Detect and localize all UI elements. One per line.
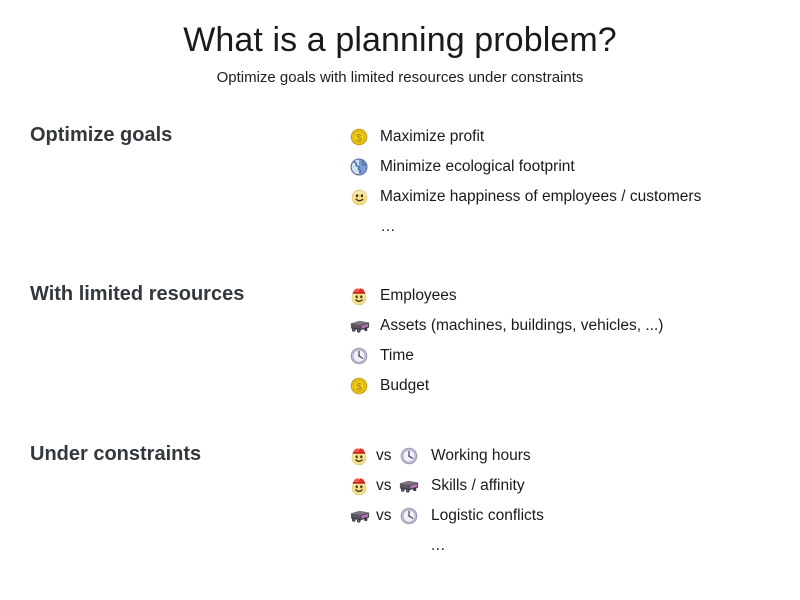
vs-label: vs: [376, 506, 392, 526]
bullet-list-limited-resources: Employees Assets (machines, buildings, v…: [348, 281, 663, 401]
section-heading-limited-resources: With limited resources: [30, 281, 244, 307]
truck-icon: [348, 316, 370, 336]
vs-label: vs: [376, 446, 392, 466]
truck-icon: [398, 476, 420, 496]
bullet-list-optimize-goals: $ Maximize profit Minimize ecological fo…: [348, 122, 701, 242]
list-item-label: Maximize happiness of employees / custom…: [380, 187, 701, 207]
list-item: $ Budget: [348, 371, 663, 401]
list-item-label: Maximize profit: [380, 127, 484, 147]
list-item: vs Skills / affinity: [348, 471, 445, 501]
smiley-icon: [348, 187, 370, 207]
worker-icon: [348, 476, 370, 496]
list-item: Maximize happiness of employees / custom…: [348, 182, 701, 212]
list-item-label: Employees: [380, 286, 457, 306]
list-ellipsis: ...: [348, 531, 445, 561]
worker-icon: [348, 446, 370, 466]
svg-text:$: $: [356, 381, 362, 393]
list-item-label: Time: [380, 346, 414, 366]
slide-title: What is a planning problem?: [0, 20, 800, 60]
svg-text:$: $: [356, 132, 362, 144]
list-item: vs Working hours: [348, 441, 445, 471]
list-ellipsis: ...: [348, 212, 701, 242]
list-item-label: Minimize ecological footprint: [380, 157, 575, 177]
constraint-pair: vs: [348, 476, 421, 496]
slide-subtitle: Optimize goals with limited resources un…: [0, 68, 800, 88]
list-item: $ Maximize profit: [348, 122, 701, 152]
worker-icon: [348, 286, 370, 306]
coin-icon: $: [348, 127, 370, 147]
globe-icon: [348, 157, 370, 177]
section-heading-under-constraints: Under constraints: [30, 441, 201, 467]
list-item-label: Budget: [380, 376, 429, 396]
list-item: vs Logistic conflicts: [348, 501, 445, 531]
slide-canvas: What is a planning problem? Optimize goa…: [0, 0, 800, 600]
constraint-pair: vs: [348, 446, 421, 466]
coin-icon: $: [348, 376, 370, 396]
list-item: Minimize ecological footprint: [348, 152, 701, 182]
bullet-list-under-constraints: vs Working hours vs: [348, 441, 445, 561]
section-heading-optimize-goals: Optimize goals: [30, 122, 172, 148]
clock-icon: [348, 346, 370, 366]
clock-icon: [398, 506, 420, 526]
truck-icon: [348, 506, 370, 526]
constraint-pair: vs: [348, 506, 421, 526]
clock-icon: [398, 446, 420, 466]
list-item: Assets (machines, buildings, vehicles, .…: [348, 311, 663, 341]
list-item-label: Assets (machines, buildings, vehicles, .…: [380, 316, 663, 336]
list-item: Employees: [348, 281, 663, 311]
list-item: Time: [348, 341, 663, 371]
vs-label: vs: [376, 476, 392, 496]
